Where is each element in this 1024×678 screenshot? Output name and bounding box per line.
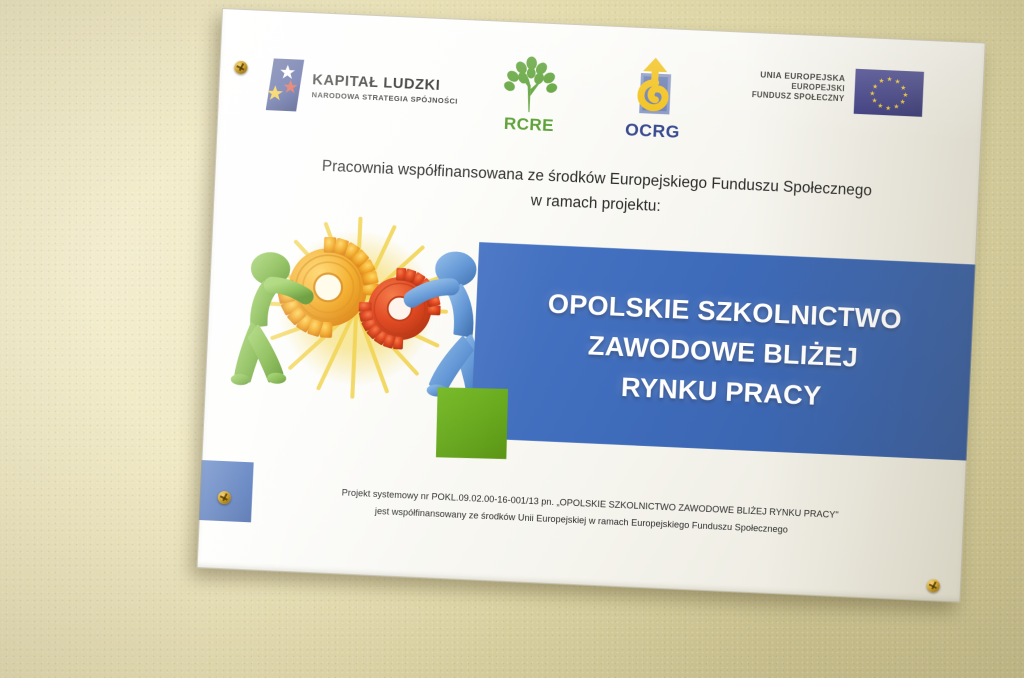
ocrg-logo: OCRG <box>609 56 699 144</box>
logo-row: KAPITAŁ LUDZKI NARODOWA STRATEGIA SPÓJNO… <box>216 34 984 164</box>
eu-flag-icon: ★ ★ ★ ★ ★ ★ ★ ★ ★ ★ ★ ★ <box>854 69 924 117</box>
figure-green-icon <box>229 247 332 391</box>
project-title-line-2: ZAWODOWE BLIŻEJ <box>587 330 858 373</box>
rcre-label: RCRE <box>486 113 571 137</box>
eu-logo: UNIA EUROPEJSKA EUROPEJSKI FUNDUSZ SPOŁE… <box>751 64 924 117</box>
tree-icon <box>498 55 563 116</box>
kapital-ludzki-logo: KAPITAŁ LUDZKI NARODOWA STRATEGIA SPÓJNO… <box>266 58 460 119</box>
decor-green-square <box>436 387 508 459</box>
footer-text: Projekt systemowy nr POKL.09.02.00-16-00… <box>199 478 964 546</box>
project-title-line-3: RYNKU PRACY <box>620 371 822 411</box>
project-title-line-1: OPOLSKIE SZKOLNICTWO <box>547 288 902 335</box>
plaque-surface: KAPITAŁ LUDZKI NARODOWA STRATEGIA SPÓJNO… <box>197 8 986 603</box>
kapital-ludzki-mark-icon <box>266 58 305 112</box>
project-title: OPOLSKIE SZKOLNICTWO ZAWODOWE BLIŻEJ RYN… <box>470 242 975 460</box>
project-title-banner: OPOLSKIE SZKOLNICTWO ZAWODOWE BLIŻEJ RYN… <box>470 242 975 460</box>
rcre-logo: RCRE <box>486 54 574 137</box>
ocrg-label: OCRG <box>609 119 696 144</box>
spiral-arrow-icon <box>625 56 684 121</box>
plaque: KAPITAŁ LUDZKI NARODOWA STRATEGIA SPÓJNO… <box>197 8 986 603</box>
